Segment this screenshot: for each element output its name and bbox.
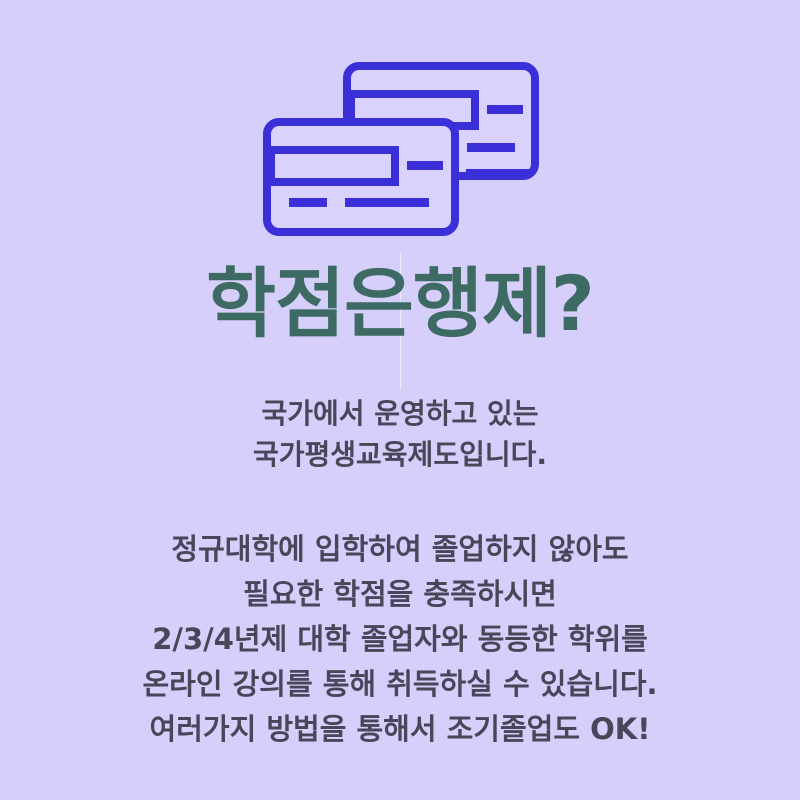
poster-canvas: 학점은행제? 국가에서 운영하고 있는 국가평생교육제도입니다. 정규대학에 입…	[0, 0, 800, 800]
card-front-dash-1	[407, 161, 443, 170]
body-line-2: 필요한 학점을 충족하시면	[0, 572, 800, 617]
page-title: 학점은행제?	[0, 266, 800, 342]
card-front-dash-3	[345, 198, 429, 207]
card-back-dash-3	[466, 169, 530, 178]
body-line-5: 여러가지 방법을 통해서 조기졸업도 OK!	[0, 707, 800, 752]
credit-cards-icon	[255, 50, 545, 240]
card-front	[267, 122, 455, 232]
body-line-3: 2/3/4년제 대학 졸업자와 동등한 학위를	[0, 617, 800, 662]
title-block: 학점은행제?	[0, 266, 800, 342]
card-front-dash-2	[289, 198, 327, 207]
subtitle-line-1: 국가에서 운영하고 있는	[0, 393, 800, 434]
subtitle-block: 국가에서 운영하고 있는 국가평생교육제도입니다.	[0, 393, 800, 475]
card-back-dash-1	[487, 105, 523, 114]
body-line-4: 온라인 강의를 통해 취득하실 수 있습니다.	[0, 662, 800, 707]
subtitle-line-2: 국가평생교육제도입니다.	[0, 434, 800, 475]
card-back-dash-2	[467, 143, 515, 152]
body-line-1: 정규대학에 입학하여 졸업하지 않아도	[0, 527, 800, 572]
body-block: 정규대학에 입학하여 졸업하지 않아도 필요한 학점을 충족하시면 2/3/4년…	[0, 527, 800, 752]
icon-container	[0, 50, 800, 250]
card-front-magstripe-box	[271, 150, 395, 182]
